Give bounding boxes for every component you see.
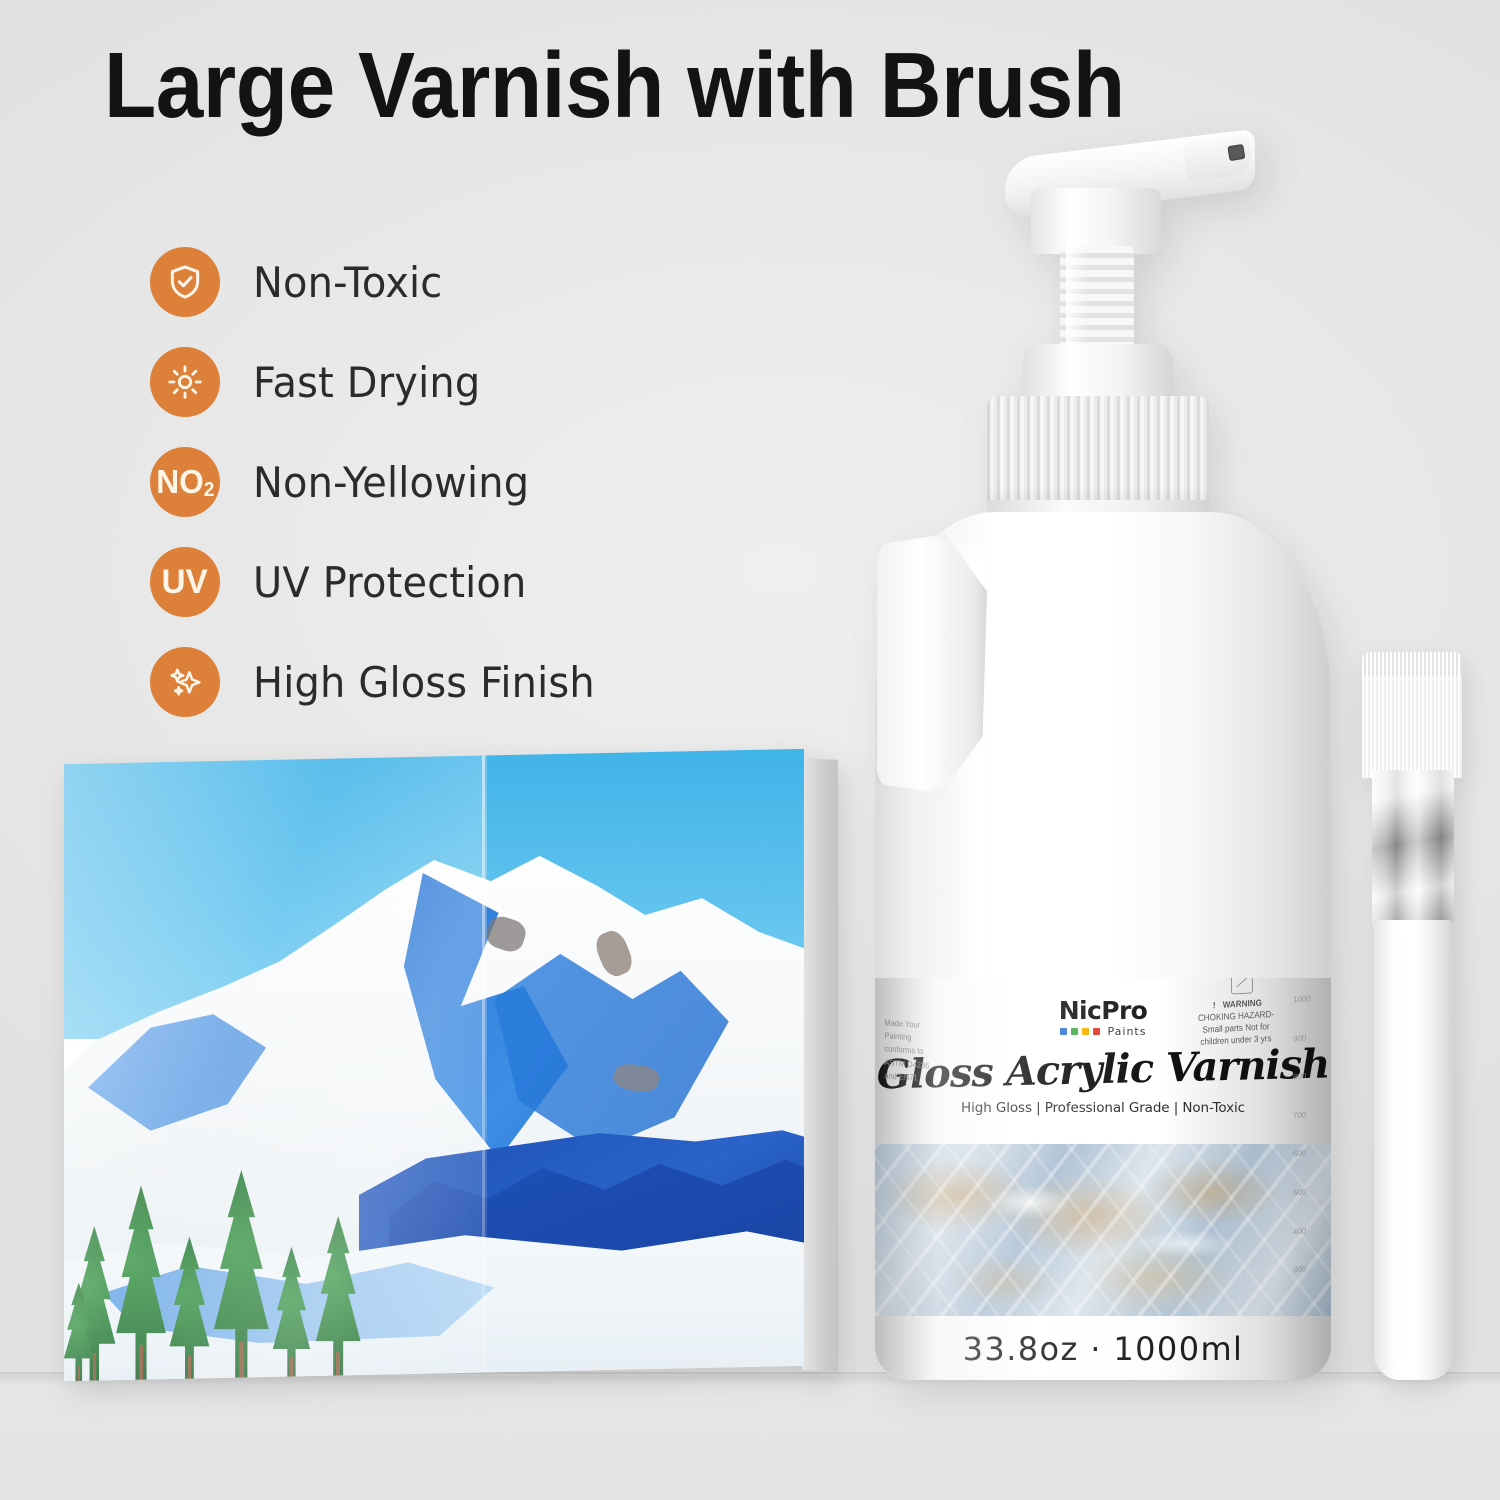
measure-mark: 300: [1293, 1263, 1327, 1276]
varnish-application-edge: [482, 745, 485, 1385]
varnish-brush: [1358, 652, 1468, 1382]
uv-icon-text: UV: [162, 563, 208, 602]
feature-item-uv-protection: UV UV Protection: [150, 532, 613, 632]
brush-handle: [1374, 920, 1454, 1380]
feature-label-non-toxic: Non-Toxic: [253, 258, 442, 307]
canvas-painting: [58, 745, 838, 1385]
measure-mark: 600: [1293, 1147, 1327, 1160]
bottle-cap[interactable]: [987, 396, 1209, 506]
measure-mark: 1000: [1293, 993, 1327, 1006]
measure-mark: 400: [1293, 1224, 1327, 1237]
feature-label-uv-protection: UV Protection: [253, 558, 527, 607]
feature-label-non-yellowing: Non-Yellowing: [253, 458, 529, 507]
warning-triangle-icon: [1210, 1000, 1221, 1011]
feature-item-high-gloss: High Gloss Finish: [150, 632, 613, 732]
pump-collar: [1031, 188, 1161, 254]
measure-mark: 700: [1293, 1108, 1327, 1121]
brush-ferrule: [1372, 770, 1454, 928]
product-marketing-image: Large Varnish with Brush Non-Toxic Fast …: [0, 0, 1500, 1500]
measure-mark: 800: [1293, 1070, 1327, 1083]
no2-icon-text: NO2: [156, 463, 214, 501]
age-restriction-icon: [1231, 978, 1253, 995]
brand-color-swatch-blue: [1060, 1028, 1067, 1035]
volume-text: 33.8oz · 1000ml: [875, 1330, 1331, 1368]
product-tagline: High Gloss | Professional Grade | Non-To…: [875, 1100, 1331, 1116]
artwork-pine-trees: [58, 1129, 404, 1385]
feature-item-fast-drying: Fast Drying: [150, 332, 613, 432]
label-compliance-text: Made Your Painting conforms to ASTM D423…: [884, 1016, 933, 1085]
canvas-depth-edge: [802, 758, 838, 1371]
measure-mark: 500: [1293, 1185, 1327, 1198]
sun-icon: [150, 347, 220, 417]
brand-color-swatch-green: [1071, 1028, 1078, 1035]
uv-icon: UV: [150, 547, 220, 617]
brush-bristles: [1362, 652, 1462, 778]
artwork-mountain-landscape: [58, 745, 810, 1385]
feature-item-non-yellowing: NO2 Non-Yellowing: [150, 432, 613, 532]
feature-item-non-toxic: Non-Toxic: [150, 232, 613, 332]
label-liquid-window: [875, 1144, 1331, 1316]
feature-list: Non-Toxic Fast Drying NO2 Non-Yellowing …: [150, 232, 613, 732]
brand-suffix: Paints: [1108, 1025, 1147, 1038]
feature-label-fast-drying: Fast Drying: [253, 358, 480, 407]
varnish-bottle: NicPro Paints Gloss Acrylic Varnish High…: [855, 130, 1355, 1380]
label-warning-block: WARNING CHOKING HAZARD-Small parts Not f…: [1194, 996, 1279, 1049]
shield-check-icon: [150, 247, 220, 317]
bottle-label: NicPro Paints Gloss Acrylic Varnish High…: [875, 978, 1331, 1380]
page-title: Large Varnish with Brush: [104, 38, 1318, 133]
sparkle-icon: [150, 647, 220, 717]
shelf-surface: [0, 1374, 1500, 1500]
no2-icon: NO2: [150, 447, 220, 517]
label-measure-scale: 1000 900 800 700 600 500 400 300: [1293, 993, 1327, 1366]
canvas-face: [58, 745, 810, 1385]
brand-color-swatch-yellow: [1082, 1028, 1089, 1035]
feature-label-high-gloss: High Gloss Finish: [253, 658, 595, 707]
brand-color-swatch-red: [1093, 1028, 1100, 1035]
measure-mark: 900: [1293, 1031, 1327, 1044]
pump-shaft: [1060, 246, 1134, 354]
warning-body: CHOKING HAZARD-Small parts Not for child…: [1194, 1008, 1279, 1049]
